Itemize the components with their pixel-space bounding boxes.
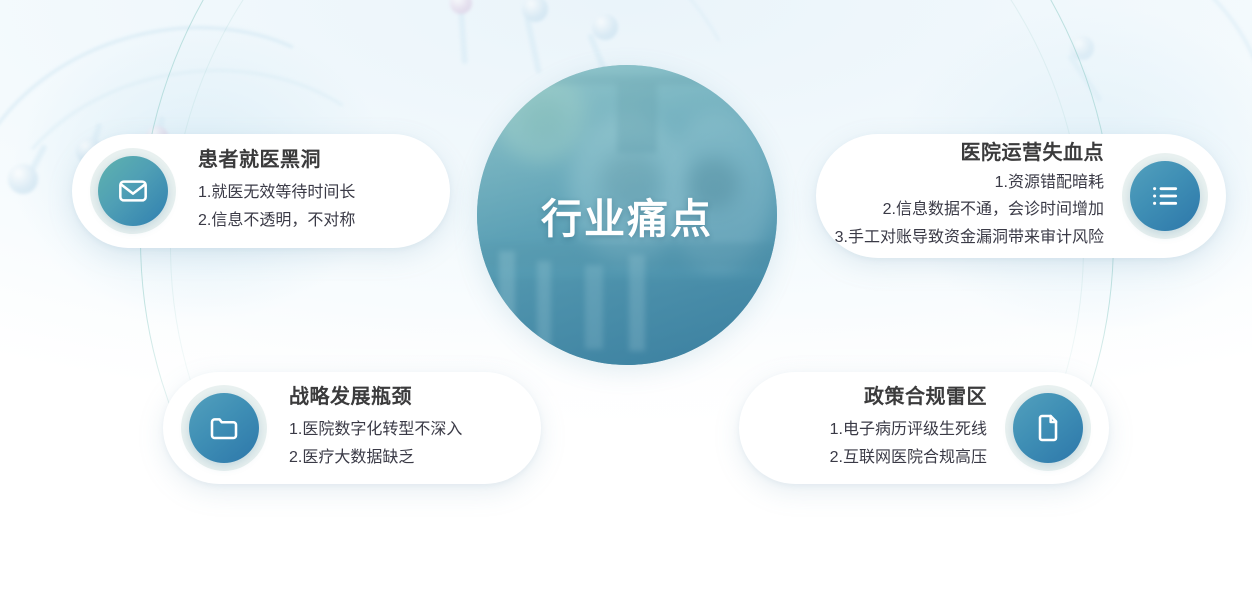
card-line: 1.医院数字化转型不深入 bbox=[289, 416, 462, 444]
icon-ring bbox=[1122, 153, 1208, 239]
icon-ring bbox=[90, 148, 176, 234]
card-line: 2.信息不透明，不对称 bbox=[198, 207, 355, 235]
card-line: 2.互联网医院合规高压 bbox=[830, 444, 987, 472]
card-title: 患者就医黑洞 bbox=[198, 148, 355, 172]
icon-ring bbox=[1005, 385, 1091, 471]
folder-icon[interactable] bbox=[189, 393, 259, 463]
card-patient-care-black-hole[interactable]: 患者就医黑洞 1.就医无效等待时间长 2.信息不透明，不对称 bbox=[72, 134, 450, 248]
document-icon[interactable] bbox=[1013, 393, 1083, 463]
card-policy-compliance-minefield[interactable]: 政策合规雷区 1.电子病历评级生死线 2.互联网医院合规高压 bbox=[739, 372, 1109, 484]
envelope-icon[interactable] bbox=[98, 156, 168, 226]
infographic-stage: 行业痛点 患者就医黑洞 1.就医无效等待时间长 2.信息不透明，不对称 bbox=[0, 0, 1252, 603]
card-hospital-operation-blood-loss[interactable]: 医院运营失血点 1.资源错配暗耗 2.信息数据不通，会诊时间增加 3.手工对账导… bbox=[816, 134, 1226, 258]
card-line: 2.信息数据不通，会诊时间增加 bbox=[835, 196, 1104, 224]
icon-ring bbox=[181, 385, 267, 471]
card-body: 政策合规雷区 1.电子病历评级生死线 2.互联网医院合规高压 bbox=[804, 385, 1005, 471]
center-title: 行业痛点 bbox=[477, 185, 777, 245]
card-line: 2.医疗大数据缺乏 bbox=[289, 444, 462, 472]
card-line: 1.就医无效等待时间长 bbox=[198, 179, 355, 207]
card-title: 战略发展瓶颈 bbox=[289, 385, 462, 409]
center-circle: 行业痛点 bbox=[477, 65, 777, 365]
card-line: 3.手工对账导致资金漏洞带来审计风险 bbox=[835, 224, 1104, 252]
list-icon[interactable] bbox=[1130, 161, 1200, 231]
card-line: 1.电子病历评级生死线 bbox=[830, 416, 987, 444]
card-body: 患者就医黑洞 1.就医无效等待时间长 2.信息不透明，不对称 bbox=[176, 148, 381, 234]
card-line: 1.资源错配暗耗 bbox=[835, 169, 1104, 197]
card-title: 医院运营失血点 bbox=[835, 141, 1104, 165]
card-body: 战略发展瓶颈 1.医院数字化转型不深入 2.医疗大数据缺乏 bbox=[267, 385, 488, 471]
card-title: 政策合规雷区 bbox=[830, 385, 987, 409]
card-strategic-development-bottleneck[interactable]: 战略发展瓶颈 1.医院数字化转型不深入 2.医疗大数据缺乏 bbox=[163, 372, 541, 484]
card-body: 医院运营失血点 1.资源错配暗耗 2.信息数据不通，会诊时间增加 3.手工对账导… bbox=[809, 141, 1122, 252]
